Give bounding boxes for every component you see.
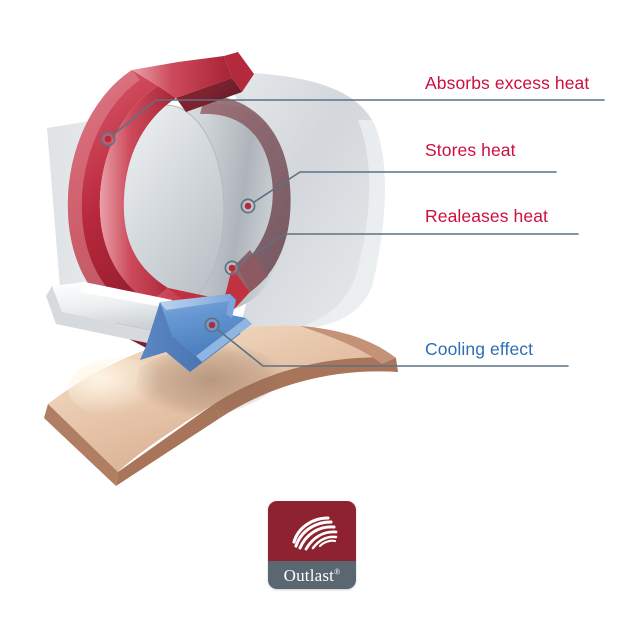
- outlast-wordmark-text: Outlast: [284, 566, 335, 585]
- outlast-logo-card: Outlast®: [268, 501, 356, 589]
- skin-surface: [44, 326, 398, 486]
- callout-marker-dot-stores-heat: [245, 203, 252, 210]
- diagram-page: Absorbs excess heat Stores heat Realease…: [0, 0, 625, 625]
- callout-marker-dot-absorbs-excess-heat: [105, 136, 112, 143]
- callout-label-realeases-heat: Realeases heat: [425, 206, 548, 227]
- outlast-logo: Outlast®: [268, 501, 356, 589]
- callout-marker-dot-realeases-heat: [229, 265, 236, 272]
- registered-mark: ®: [334, 567, 340, 576]
- callout-label-cooling-effect: Cooling effect: [425, 339, 533, 360]
- outlast-swoosh-icon: [268, 501, 356, 561]
- callout-marker-dot-cooling-effect: [209, 322, 216, 329]
- callout-label-stores-heat: Stores heat: [425, 140, 516, 161]
- callout-label-absorbs-excess-heat: Absorbs excess heat: [425, 73, 589, 94]
- outlast-wordmark: Outlast®: [268, 566, 356, 585]
